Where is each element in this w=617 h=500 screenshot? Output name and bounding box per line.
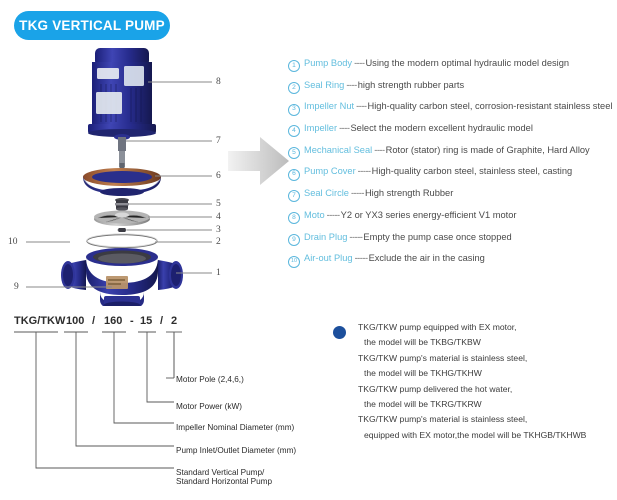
legend-part-name: Seal Circle <box>304 188 349 198</box>
legend-item-4: 4Impeller ----Select the modern excellen… <box>288 123 614 136</box>
legend-number-icon: 7 <box>288 190 300 202</box>
legend-item-10: 10Air-out Plug -----Exclude the air in t… <box>288 253 614 267</box>
seal-ring-part <box>87 234 157 248</box>
variant-line-1: TKG/TKW pump equipped with EX motor, <box>333 322 617 332</box>
callout-number-8: 8 <box>216 77 221 87</box>
model-code-separator: / <box>160 315 163 327</box>
legend-part-name: Pump Cover <box>304 166 356 176</box>
legend-number-icon: 5 <box>288 147 300 159</box>
legend-number-icon: 9 <box>288 234 300 246</box>
product-spec-page: TKG VERTICAL PUMP <box>0 0 617 500</box>
legend-description: High-quality carbon steel, corrosion-res… <box>368 101 613 111</box>
legend-dash: ---- <box>374 145 384 155</box>
legend-part-name: Drain Plug <box>304 232 347 242</box>
legend-description: High-quality carbon steel, stainless ste… <box>372 166 573 176</box>
motor-part <box>88 48 156 137</box>
legend-description: Exclude the air in the casing <box>369 253 485 263</box>
model-code-label: Motor Power (kW) <box>176 402 242 411</box>
legend-description: Using the modern optimal hydraulic model… <box>365 58 569 68</box>
model-code-separator: / <box>92 315 95 327</box>
model-code-label: Pump Inlet/Outlet Diameter (mm) <box>176 446 296 455</box>
model-variants: TKG/TKW pump equipped with EX motor,the … <box>333 322 617 445</box>
legend-number-icon: 4 <box>288 125 300 137</box>
legend-item-7: 7Seal Circle -----High strength Rubber <box>288 188 614 201</box>
flow-arrow <box>228 133 290 189</box>
shaft-part <box>114 134 130 173</box>
legend-item-9: 9Drain Plug -----Empty the pump case onc… <box>288 232 614 245</box>
legend-dash: ----- <box>355 253 368 263</box>
legend-item-6: 6Pump Cover -----High-quality carbon ste… <box>288 166 614 179</box>
mechanical-seal-part <box>115 198 129 211</box>
callout-number-10: 10 <box>8 237 18 247</box>
model-code-breakdown: TKG/TKW100160152/-/Motor Pole (2,4,6,)Mo… <box>0 310 330 500</box>
model-code-segment: 15 <box>140 315 152 327</box>
pump-body-part <box>61 248 183 306</box>
variant-bullet-icon <box>333 326 346 339</box>
variant-line-8: equipped with EX motor,the model will be… <box>333 430 617 440</box>
legend-part-name: Seal Ring <box>304 80 344 90</box>
variant-line-7: TKG/TKW pump's material is stainless ste… <box>333 414 617 424</box>
legend-dash: ---- <box>356 101 366 111</box>
legend-part-name: Impeller <box>304 123 337 133</box>
legend-description: high strength rubber parts <box>358 80 464 90</box>
callout-number-3: 3 <box>216 225 221 235</box>
legend-number-icon: 10 <box>288 256 300 268</box>
callout-number-6: 6 <box>216 171 221 181</box>
model-code-label: Standard Vertical Pump/ <box>176 468 264 477</box>
legend-part-name: Pump Body <box>304 58 352 68</box>
callout-number-5: 5 <box>216 199 221 209</box>
legend-item-5: 5Mechanical Seal ----Rotor (stator) ring… <box>288 145 614 158</box>
variant-line-3: TKG/TKW pump's material is stainless ste… <box>333 353 617 363</box>
pump-cover-part <box>83 168 161 196</box>
legend-dash: ----- <box>349 232 362 242</box>
legend-description: Y2 or YX3 series energy-efficient V1 mot… <box>341 210 517 220</box>
impeller-nut-part <box>118 228 127 232</box>
pump-illustration <box>0 44 245 306</box>
page-title: TKG VERTICAL PUMP <box>19 18 165 33</box>
legend-part-name: Air-out Plug <box>304 253 353 263</box>
legend-number-icon: 2 <box>288 82 300 94</box>
legend-number-icon: 1 <box>288 60 300 72</box>
legend-number-icon: 3 <box>288 104 300 116</box>
legend-part-name: Impeller Nut <box>304 101 354 111</box>
model-code-segment: TKG/TKW <box>14 315 65 327</box>
legend-item-2: 2Seal Ring ----high strength rubber part… <box>288 80 614 93</box>
legend-dash: ----- <box>358 166 371 176</box>
callout-number-2: 2 <box>216 237 221 247</box>
legend-part-name: Mechanical Seal <box>304 145 372 155</box>
variant-line-4: the model will be TKHG/TKHW <box>333 368 617 378</box>
legend-description: High strength Rubber <box>365 188 453 198</box>
model-code-label: Standard Horizontal Pump <box>176 477 272 486</box>
callout-number-7: 7 <box>216 136 221 146</box>
pump-exploded-diagram: 87654321109 <box>0 44 245 306</box>
legend-dash: ----- <box>327 210 340 220</box>
model-code-segment: 2 <box>171 315 177 327</box>
variant-line-2: the model will be TKBG/TKBW <box>333 337 617 347</box>
legend-description: Empty the pump case once stopped <box>363 232 511 242</box>
parts-legend: 1Pump Body ----Using the modern optimal … <box>288 58 614 275</box>
legend-number-icon: 6 <box>288 169 300 181</box>
legend-item-1: 1Pump Body ----Using the modern optimal … <box>288 58 614 71</box>
legend-item-8: 8Moto -----Y2 or YX3 series energy-effic… <box>288 210 614 223</box>
legend-dash: ---- <box>346 80 356 90</box>
legend-description: Rotor (stator) ring is made of Graphite,… <box>386 145 590 155</box>
variant-line-5: TKG/TKW pump delivered the hot water, <box>333 384 617 394</box>
model-code-lines <box>0 310 330 500</box>
legend-description: Select the modern excellent hydraulic mo… <box>350 123 532 133</box>
impeller-part <box>94 211 150 227</box>
legend-number-icon: 8 <box>288 212 300 224</box>
legend-part-name: Moto <box>304 210 325 220</box>
callout-number-4: 4 <box>216 212 221 222</box>
page-title-banner: TKG VERTICAL PUMP <box>14 11 170 40</box>
model-code-label: Motor Pole (2,4,6,) <box>176 375 244 384</box>
legend-dash: ---- <box>339 123 349 133</box>
callout-number-1: 1 <box>216 268 221 278</box>
variant-line-6: the model will be TKRG/TKRW <box>333 399 617 409</box>
legend-dash: ----- <box>351 188 364 198</box>
model-code-label: Impeller Nominal Diameter (mm) <box>176 423 294 432</box>
model-code-segment: 160 <box>104 315 122 327</box>
model-code-segment: 100 <box>66 315 84 327</box>
legend-item-3: 3Impeller Nut ----High-quality carbon st… <box>288 101 614 114</box>
model-code-separator: - <box>130 315 134 327</box>
callout-number-9: 9 <box>14 282 19 292</box>
legend-dash: ---- <box>354 58 364 68</box>
